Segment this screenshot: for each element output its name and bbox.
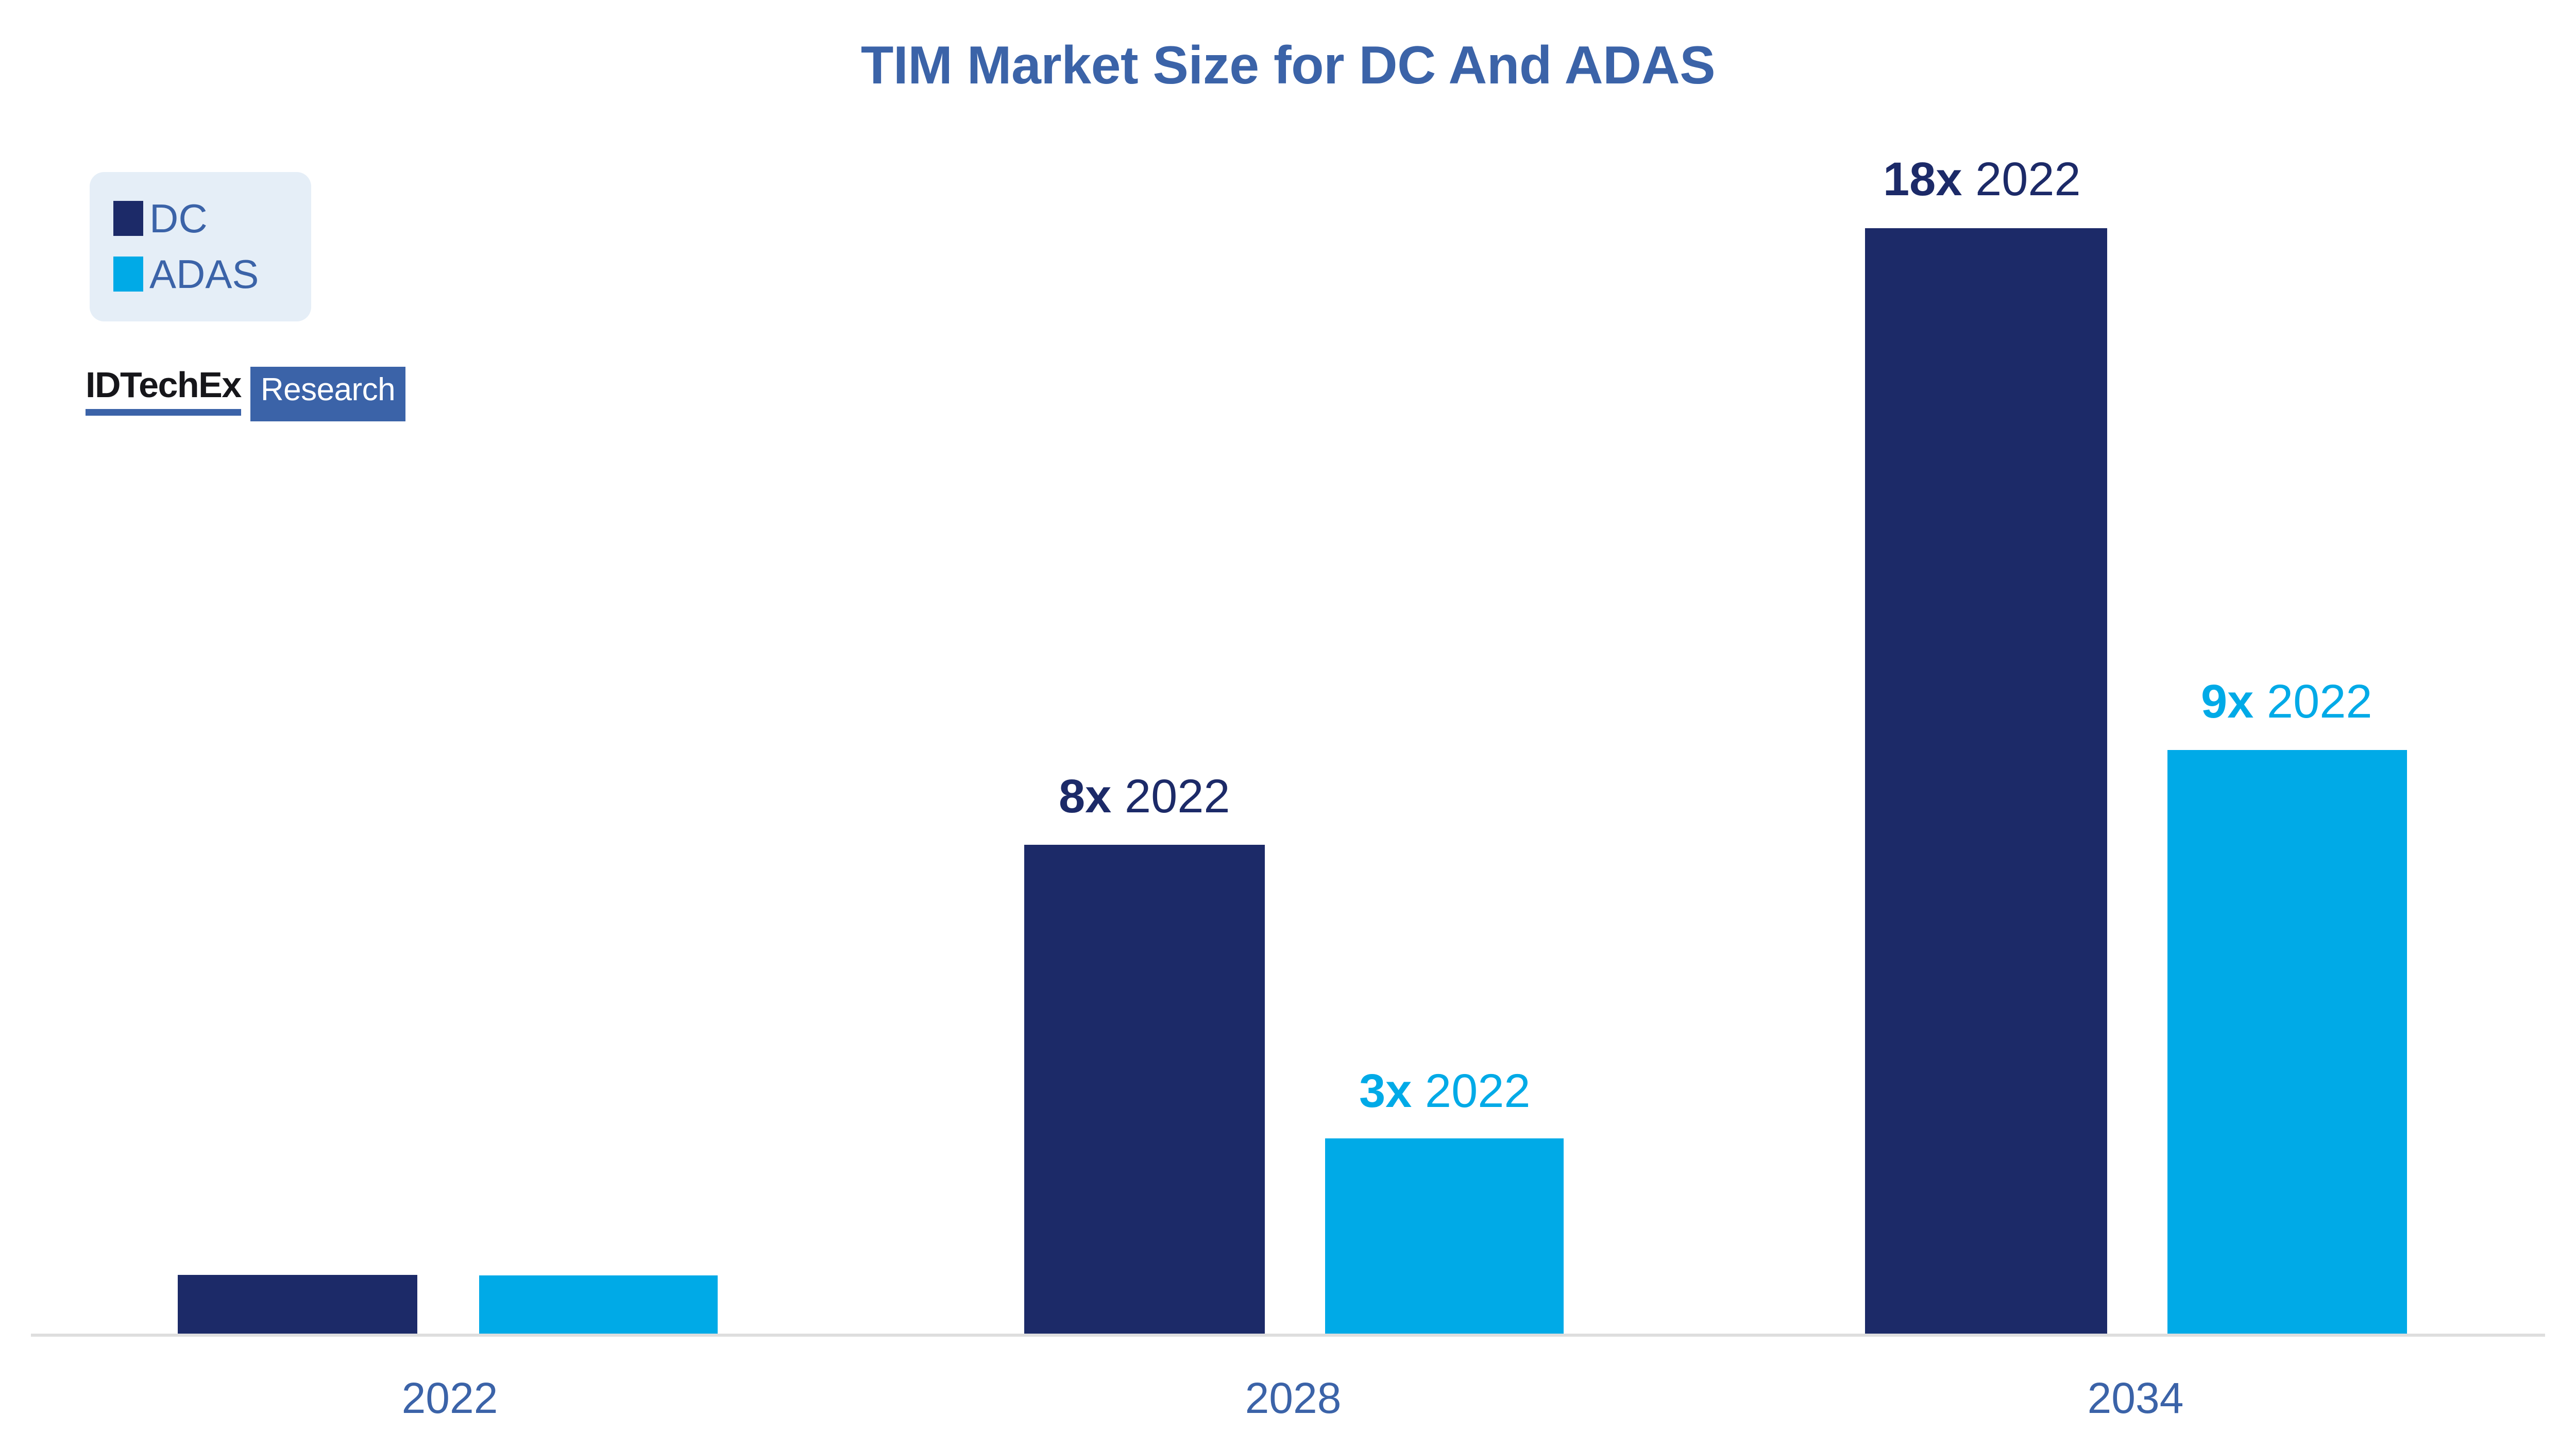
bar-adas-2028[interactable] bbox=[1325, 1138, 1564, 1334]
bar-label-dc-2034-multiplier: 18x bbox=[1883, 153, 1962, 206]
chart-plot-area: 8x 2022 3x 2022 18x 2022 9x 2022 2022 20… bbox=[0, 0, 2576, 1449]
bar-label-dc-2028-multiplier: 8x bbox=[1059, 770, 1111, 823]
x-axis-baseline bbox=[31, 1334, 2545, 1337]
bar-dc-2034[interactable] bbox=[1865, 228, 2107, 1334]
x-tick-label-2022: 2022 bbox=[336, 1376, 563, 1420]
bar-label-adas-2028-multiplier: 3x bbox=[1359, 1065, 1412, 1117]
bar-dc-2022[interactable] bbox=[178, 1275, 417, 1334]
bar-label-adas-2028-year: 2022 bbox=[1425, 1065, 1531, 1117]
bar-label-adas-2028: 3x 2022 bbox=[1359, 1067, 1531, 1115]
x-tick-label-2028: 2028 bbox=[1180, 1376, 1406, 1420]
x-tick-label-2034: 2034 bbox=[2022, 1376, 2249, 1420]
bar-dc-2028[interactable] bbox=[1024, 845, 1265, 1334]
bar-adas-2034[interactable] bbox=[2167, 750, 2407, 1334]
bar-label-dc-2028: 8x 2022 bbox=[1059, 773, 1230, 820]
bar-label-dc-2028-year: 2022 bbox=[1125, 770, 1230, 823]
bar-label-adas-2034-year: 2022 bbox=[2267, 675, 2372, 728]
bar-label-dc-2034-year: 2022 bbox=[1975, 153, 2081, 206]
bar-label-dc-2034: 18x 2022 bbox=[1883, 156, 2081, 203]
bar-label-adas-2034: 9x 2022 bbox=[2201, 678, 2372, 725]
bar-adas-2022[interactable] bbox=[479, 1275, 718, 1334]
bar-label-adas-2034-multiplier: 9x bbox=[2201, 675, 2253, 728]
